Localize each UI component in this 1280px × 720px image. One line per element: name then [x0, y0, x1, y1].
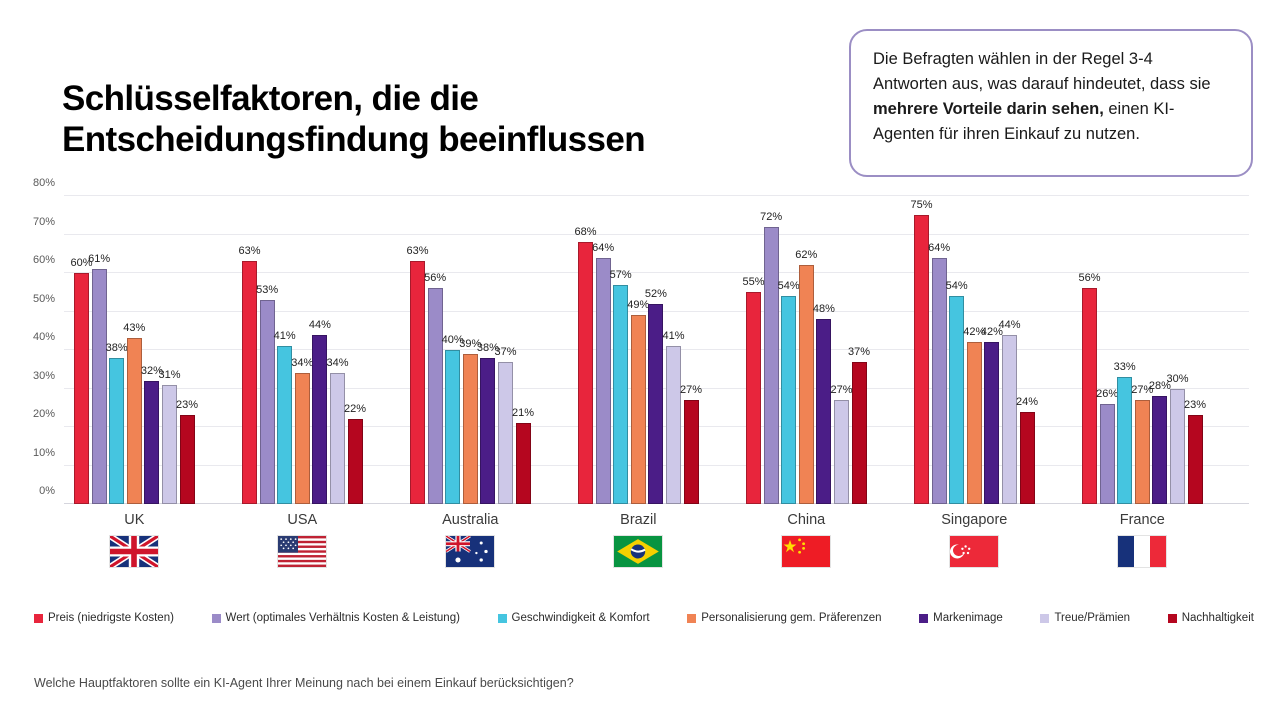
y-axis-tick-label: 80% [15, 177, 55, 189]
uk-flag [109, 535, 159, 568]
bar-column[interactable]: 37% [852, 196, 867, 504]
callout-text: Die Befragten wählen in der Regel 3-4 An… [873, 47, 1229, 147]
bar-column[interactable]: 43% [127, 196, 142, 504]
bar-group-bars: 60%61%38%43%32%31%23% [74, 196, 195, 504]
y-axis-tick-label: 30% [15, 370, 55, 382]
chart-legend: Preis (niedrigste Kosten)Wert (optimales… [34, 612, 1254, 624]
legend-label: Geschwindigkeit & Komfort [512, 612, 650, 624]
bar-value-label: 37% [848, 346, 870, 358]
legend-label: Nachhaltigkeit [1182, 612, 1254, 624]
bar-column[interactable]: 34% [295, 196, 310, 504]
bar-column[interactable]: 30% [1170, 196, 1185, 504]
bar-column[interactable]: 54% [781, 196, 796, 504]
bar[interactable] [932, 258, 947, 504]
bar-chart-plot-area: 0%10%20%30%40%50%60%70%80%60%61%38%43%32… [64, 196, 1249, 504]
bar-group-bars: 56%26%33%27%28%30%23% [1082, 196, 1203, 504]
singapore-flag [949, 535, 999, 568]
bar-column[interactable]: 75% [914, 196, 929, 504]
bar-value-label: 48% [813, 303, 835, 315]
bar-column[interactable]: 32% [144, 196, 159, 504]
survey-question: Welche Hauptfaktoren sollte ein KI-Agent… [34, 676, 574, 690]
bar-value-label: 61% [88, 253, 110, 265]
y-axis-tick-label: 40% [15, 331, 55, 343]
bar-value-label: 53% [256, 284, 278, 296]
bar[interactable] [1188, 415, 1203, 504]
legend-swatch-icon [498, 614, 507, 623]
bar-value-label: 63% [238, 245, 260, 257]
bar-value-label: 44% [309, 319, 331, 331]
bar-value-label: 49% [627, 299, 649, 311]
bar[interactable] [1002, 335, 1017, 504]
bar[interactable] [180, 415, 195, 504]
bar-group: 63%53%41%34%44%34%22% [242, 196, 363, 504]
bar[interactable] [1152, 396, 1167, 504]
callout-box: Die Befragten wählen in der Regel 3-4 An… [849, 29, 1253, 177]
bar-value-label: 64% [592, 242, 614, 254]
bar-column[interactable]: 38% [480, 196, 495, 504]
y-axis-tick-label: 70% [15, 216, 55, 228]
y-axis-tick-label: 60% [15, 254, 55, 266]
bar-group: 68%64%57%49%52%41%27% [578, 196, 699, 504]
category-australia: Australia [400, 512, 540, 568]
bar-value-label: 54% [946, 280, 968, 292]
australia-flag [445, 535, 495, 568]
bar[interactable] [914, 215, 929, 504]
legend-label: Preis (niedrigste Kosten) [48, 612, 174, 624]
bar[interactable] [242, 261, 257, 504]
legend-label: Personalisierung gem. Präferenzen [701, 612, 881, 624]
bar[interactable] [410, 261, 425, 504]
bar-value-label: 21% [512, 407, 534, 419]
bar[interactable] [852, 362, 867, 504]
bar-value-label: 34% [326, 357, 348, 369]
usa-flag [277, 535, 327, 568]
bar-group: 63%56%40%39%38%37%21% [410, 196, 531, 504]
bar[interactable] [348, 419, 363, 504]
bar-column[interactable]: 34% [330, 196, 345, 504]
bar-value-label: 64% [928, 242, 950, 254]
y-axis-tick-label: 10% [15, 447, 55, 459]
bar-value-label: 27% [680, 384, 702, 396]
bar-value-label: 26% [1096, 388, 1118, 400]
bar-value-label: 28% [1149, 380, 1171, 392]
bar-group-bars: 68%64%57%49%52%41%27% [578, 196, 699, 504]
bar-column[interactable]: 61% [92, 196, 107, 504]
legend-item[interactable]: Markenimage [919, 612, 1003, 624]
legend-item[interactable]: Geschwindigkeit & Komfort [498, 612, 650, 624]
bar-value-label: 41% [274, 330, 296, 342]
bar-value-label: 55% [742, 276, 764, 288]
category-label: China [736, 512, 876, 528]
category-label: Australia [400, 512, 540, 528]
bar[interactable] [1170, 389, 1185, 505]
bar-value-label: 57% [610, 269, 632, 281]
bar-group-bars: 63%56%40%39%38%37%21% [410, 196, 531, 504]
y-axis-tick-label: 20% [15, 408, 55, 420]
legend-swatch-icon [1168, 614, 1177, 623]
bar-value-label: 23% [1184, 399, 1206, 411]
bar-column[interactable]: 24% [1020, 196, 1035, 504]
bar[interactable] [260, 300, 275, 504]
bar-value-label: 44% [998, 319, 1020, 331]
y-axis-tick-label: 0% [15, 485, 55, 497]
bar-group-bars: 63%53%41%34%44%34%22% [242, 196, 363, 504]
bar-value-label: 54% [778, 280, 800, 292]
bar-column[interactable]: 64% [932, 196, 947, 504]
category-brazil: Brazil [568, 512, 708, 568]
bar-group: 75%64%54%42%42%44%24% [914, 196, 1035, 504]
legend-item[interactable]: Wert (optimales Verhältnis Kosten & Leis… [212, 612, 460, 624]
bar[interactable] [764, 227, 779, 504]
bar-value-label: 75% [910, 199, 932, 211]
bar-value-label: 32% [141, 365, 163, 377]
bar[interactable] [578, 242, 593, 504]
bar-value-label: 41% [662, 330, 684, 342]
bar-value-label: 42% [963, 326, 985, 338]
bar-column[interactable]: 60% [74, 196, 89, 504]
bar-column[interactable]: 44% [1002, 196, 1017, 504]
bar-column[interactable]: 48% [816, 196, 831, 504]
bar[interactable] [949, 296, 964, 504]
bar[interactable] [330, 373, 345, 504]
bar-group: 55%72%54%62%48%27%37% [746, 196, 867, 504]
bar-column[interactable]: 26% [1100, 196, 1115, 504]
bar-column[interactable]: 62% [799, 196, 814, 504]
bar-column[interactable]: 27% [1135, 196, 1150, 504]
bar-column[interactable]: 63% [242, 196, 257, 504]
bar[interactable] [648, 304, 663, 504]
bar[interactable] [834, 400, 849, 504]
bar[interactable] [781, 296, 796, 504]
bar-column[interactable]: 37% [498, 196, 513, 504]
bar[interactable] [162, 385, 177, 504]
bar-value-label: 60% [70, 257, 92, 269]
legend-item[interactable]: Preis (niedrigste Kosten) [34, 612, 174, 624]
bar[interactable] [799, 265, 814, 504]
bar[interactable] [480, 358, 495, 504]
bar[interactable] [109, 358, 124, 504]
category-usa: USA [232, 512, 372, 568]
bar-column[interactable]: 42% [967, 196, 982, 504]
slide-canvas: Schlüsselfaktoren, die die Entscheidungs… [0, 0, 1280, 720]
bar-column[interactable]: 57% [613, 196, 628, 504]
bar-value-label: 37% [494, 346, 516, 358]
category-france: France [1072, 512, 1212, 568]
bar-group: 56%26%33%27%28%30%23% [1082, 196, 1203, 504]
bar-value-label: 30% [1166, 373, 1188, 385]
callout-text-bold: mehrere Vorteile darin sehen, [873, 100, 1104, 118]
brazil-flag [613, 535, 663, 568]
bar-column[interactable]: 33% [1117, 196, 1132, 504]
bar[interactable] [92, 269, 107, 504]
bar-column[interactable]: 38% [109, 196, 124, 504]
bar-value-label: 43% [123, 322, 145, 334]
category-china: China [736, 512, 876, 568]
bar-column[interactable]: 49% [631, 196, 646, 504]
bar[interactable] [816, 319, 831, 504]
bar-column[interactable]: 42% [984, 196, 999, 504]
bar-column[interactable]: 39% [463, 196, 478, 504]
bar-column[interactable]: 55% [746, 196, 761, 504]
bar-value-label: 56% [424, 272, 446, 284]
bar[interactable] [74, 273, 89, 504]
bar-column[interactable]: 63% [410, 196, 425, 504]
bar-column[interactable]: 41% [277, 196, 292, 504]
bar[interactable] [631, 315, 646, 504]
bar-column[interactable]: 52% [648, 196, 663, 504]
bar-column[interactable]: 53% [260, 196, 275, 504]
category-label: Singapore [904, 512, 1044, 528]
bar-value-label: 40% [442, 334, 464, 346]
bar-value-label: 23% [176, 399, 198, 411]
bar-value-label: 39% [459, 338, 481, 350]
y-axis-tick-label: 50% [15, 293, 55, 305]
bar-value-label: 62% [795, 249, 817, 261]
bar[interactable] [1020, 412, 1035, 504]
bar-column[interactable]: 68% [578, 196, 593, 504]
legend-item[interactable]: Treue/Prämien [1040, 612, 1130, 624]
bar-column[interactable]: 54% [949, 196, 964, 504]
bar-column[interactable]: 44% [312, 196, 327, 504]
bar[interactable] [613, 285, 628, 504]
bar[interactable] [312, 335, 327, 504]
page-title: Schlüsselfaktoren, die die Entscheidungs… [62, 78, 802, 161]
bar-column[interactable]: 40% [445, 196, 460, 504]
bar-group: 60%61%38%43%32%31%23% [74, 196, 195, 504]
legend-swatch-icon [212, 614, 221, 623]
bar-group-bars: 55%72%54%62%48%27%37% [746, 196, 867, 504]
bar-column[interactable]: 27% [834, 196, 849, 504]
china-flag [781, 535, 831, 568]
bar-value-label: 22% [344, 403, 366, 415]
bar[interactable] [277, 346, 292, 504]
bar[interactable] [1082, 288, 1097, 504]
legend-swatch-icon [919, 614, 928, 623]
bar[interactable] [498, 362, 513, 504]
bar[interactable] [746, 292, 761, 504]
bar-value-label: 42% [981, 326, 1003, 338]
legend-label: Wert (optimales Verhältnis Kosten & Leis… [226, 612, 460, 624]
bar[interactable] [295, 373, 310, 504]
bar[interactable] [144, 381, 159, 504]
legend-label: Treue/Prämien [1054, 612, 1130, 624]
bar-value-label: 56% [1078, 272, 1100, 284]
bar-column[interactable]: 56% [1082, 196, 1097, 504]
bar-column[interactable]: 21% [516, 196, 531, 504]
bar[interactable] [1135, 400, 1150, 504]
bar-value-label: 27% [830, 384, 852, 396]
category-label: UK [64, 512, 204, 528]
bar-column[interactable]: 72% [764, 196, 779, 504]
bar[interactable] [596, 258, 611, 504]
legend-label: Markenimage [933, 612, 1003, 624]
category-uk: UK [64, 512, 204, 568]
bar[interactable] [984, 342, 999, 504]
callout-text-before: Die Befragten wählen in der Regel 3-4 An… [873, 50, 1211, 93]
bar-value-label: 52% [645, 288, 667, 300]
bar-value-label: 34% [291, 357, 313, 369]
bar[interactable] [516, 423, 531, 504]
bar-value-label: 31% [158, 369, 180, 381]
bar[interactable] [1117, 377, 1132, 504]
bar[interactable] [666, 346, 681, 504]
bar-column[interactable]: 28% [1152, 196, 1167, 504]
bar[interactable] [1100, 404, 1115, 504]
bar[interactable] [463, 354, 478, 504]
bar-value-label: 72% [760, 211, 782, 223]
bar[interactable] [445, 350, 460, 504]
bar-column[interactable]: 56% [428, 196, 443, 504]
bar-value-label: 68% [574, 226, 596, 238]
bar-value-label: 33% [1114, 361, 1136, 373]
bar[interactable] [127, 338, 142, 504]
bar[interactable] [684, 400, 699, 504]
bar-column[interactable]: 31% [162, 196, 177, 504]
legend-item[interactable]: Nachhaltigkeit [1168, 612, 1254, 624]
bar-column[interactable]: 22% [348, 196, 363, 504]
bar-value-label: 24% [1016, 396, 1038, 408]
france-flag [1117, 535, 1167, 568]
bar-column[interactable]: 64% [596, 196, 611, 504]
legend-swatch-icon [687, 614, 696, 623]
bar[interactable] [967, 342, 982, 504]
bar-column[interactable]: 41% [666, 196, 681, 504]
bar-value-label: 38% [106, 342, 128, 354]
legend-item[interactable]: Personalisierung gem. Präferenzen [687, 612, 881, 624]
category-singapore: Singapore [904, 512, 1044, 568]
bar-value-label: 63% [406, 245, 428, 257]
category-label: USA [232, 512, 372, 528]
category-label: Brazil [568, 512, 708, 528]
legend-swatch-icon [1040, 614, 1049, 623]
category-label: France [1072, 512, 1212, 528]
bar-column[interactable]: 23% [1188, 196, 1203, 504]
bar-column[interactable]: 27% [684, 196, 699, 504]
bar[interactable] [428, 288, 443, 504]
bar-column[interactable]: 23% [180, 196, 195, 504]
bar-value-label: 38% [477, 342, 499, 354]
legend-swatch-icon [34, 614, 43, 623]
bar-value-label: 27% [1131, 384, 1153, 396]
bar-group-bars: 75%64%54%42%42%44%24% [914, 196, 1035, 504]
